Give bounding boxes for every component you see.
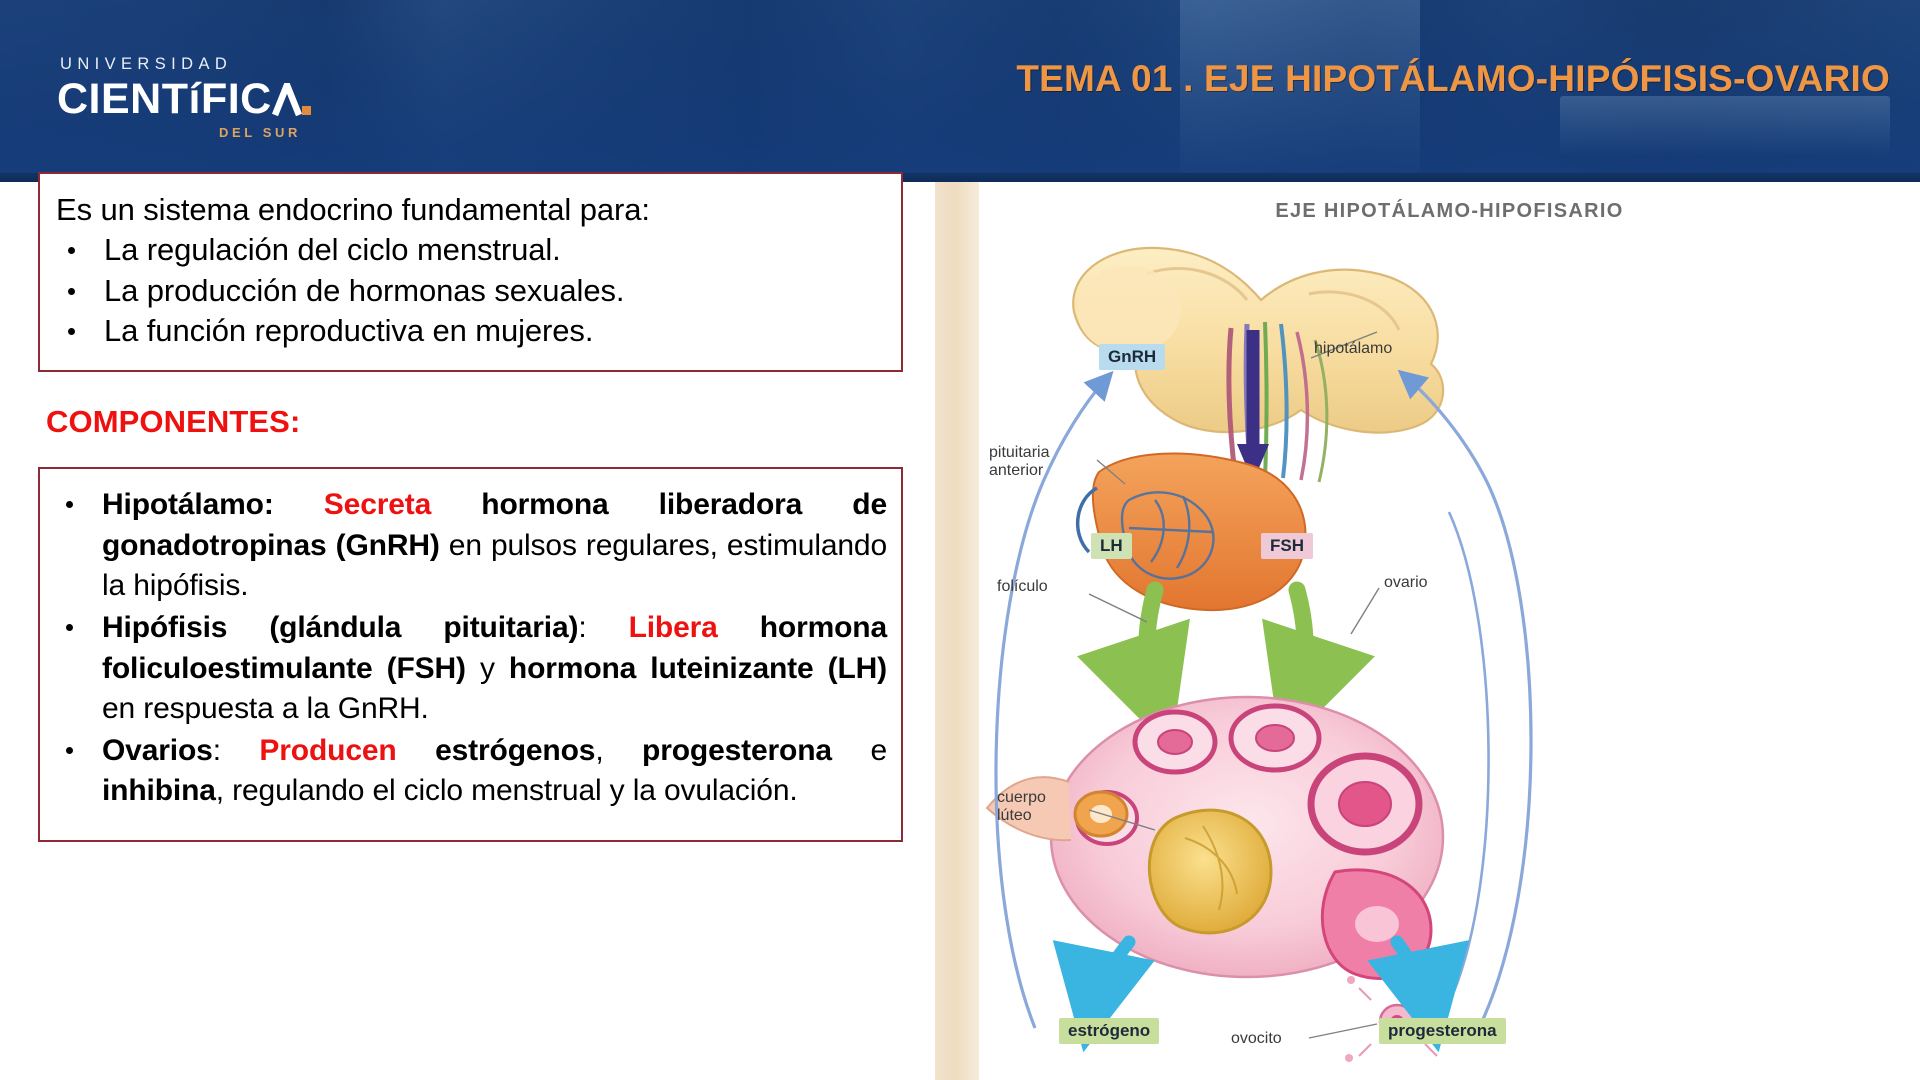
intro-textbox: Es un sistema endocrino fundamental para…: [38, 172, 903, 372]
term-ovarios-colon: :: [213, 734, 221, 767]
slide: UNIVERSIDAD CIENTíFIC DEL SUR TEMA 01 . …: [0, 0, 1920, 1080]
label-pituitaria-anterior: pituitaria anterior: [989, 444, 1049, 481]
intro-bullet-list: La regulación del ciclo menstrual. La pr…: [56, 230, 885, 351]
components-heading: COMPONENTES:: [46, 404, 300, 440]
list-item-hipotalamo: Hipotálamo: Secreta hormona liberadora d…: [54, 485, 887, 607]
tag-progesterona: progesterona: [1379, 1018, 1506, 1044]
logo-a-glyph-icon: [272, 83, 302, 116]
tag-gnrh: GnRH: [1099, 344, 1165, 370]
separator-comma: ,: [595, 734, 642, 767]
label-pituitaria-line1: pituitaria: [989, 444, 1049, 461]
tag-estrogeno: estrógeno: [1059, 1018, 1159, 1044]
page-title: TEMA 01 . EJE HIPOTÁLAMO-HIPÓFISIS-OVARI…: [640, 58, 1890, 99]
components-bullet-list: Hipotálamo: Secreta hormona liberadora d…: [54, 485, 887, 812]
diagram-artwork-icon: [979, 182, 1920, 1080]
diagram-side-strip: [935, 182, 979, 1080]
hypothalamic-pituitary-ovarian-axis-figure: EJE HIPOTÁLAMO-HIPOFISARIO: [979, 182, 1920, 1080]
tag-fsh: FSH: [1261, 533, 1313, 559]
logo-supertext: UNIVERSIDAD: [60, 56, 317, 73]
bold-estrogenos: estrógenos: [435, 734, 595, 767]
label-pituitaria-line2: anterior: [989, 462, 1043, 479]
highlight-secreta: Secreta: [324, 488, 431, 521]
label-hipotalamo: hipotálamo: [1314, 340, 1392, 358]
university-logo: UNIVERSIDAD CIENTíFIC DEL SUR: [57, 56, 317, 136]
logo-accent-dot-icon: [302, 106, 311, 115]
tag-lh: LH: [1091, 533, 1132, 559]
label-cuerpo-line1: cuerpo: [997, 789, 1046, 806]
bold-lh-phrase: hormona luteinizante (LH): [509, 652, 887, 685]
conjunction-e: e: [832, 734, 887, 767]
slide-header: UNIVERSIDAD CIENTíFIC DEL SUR TEMA 01 . …: [0, 0, 1920, 182]
list-item-ovarios: Ovarios: Producen estrógenos, progestero…: [54, 731, 887, 812]
label-ovocito: ovocito: [1231, 1030, 1282, 1048]
label-cuerpo-luteo: cuerpo lúteo: [997, 789, 1046, 826]
list-item: La producción de hormonas sexuales.: [56, 271, 885, 311]
components-textbox: Hipotálamo: Secreta hormona liberadora d…: [38, 467, 903, 842]
bold-progesterona: progesterona: [642, 734, 832, 767]
list-item: La regulación del ciclo menstrual.: [56, 230, 885, 270]
logo-subtext: DEL SUR: [57, 125, 317, 140]
term-hipotalamo: Hipotálamo:: [102, 488, 274, 521]
rest-hipofisis: en respuesta a la GnRH.: [102, 692, 429, 725]
logo-wordmark-text: CIENTíFIC: [57, 75, 272, 123]
highlight-libera: Libera: [629, 611, 718, 644]
list-item-hipofisis: Hipófisis (glándula pituitaria): Libera …: [54, 608, 887, 730]
left-content-column: Es un sistema endocrino fundamental para…: [0, 182, 935, 1080]
highlight-producen: Producen: [259, 734, 396, 767]
bold-inhibina: inhibina: [102, 774, 216, 807]
conjunction-y: y: [466, 652, 509, 685]
label-cuerpo-line2: lúteo: [997, 807, 1032, 824]
list-item: La función reproductiva en mujeres.: [56, 311, 885, 351]
diagram-panel: EJE HIPOTÁLAMO-HIPOFISARIO: [935, 182, 1920, 1080]
term-ovarios: Ovarios: [102, 734, 213, 767]
term-hipofisis-colon: :: [578, 611, 586, 644]
term-hipofisis: Hipófisis (glándula pituitaria): [102, 611, 578, 644]
intro-lead-text: Es un sistema endocrino fundamental para…: [56, 190, 885, 230]
rest-ovarios: , regulando el ciclo menstrual y la ovul…: [216, 774, 798, 807]
logo-wordmark: CIENTíFIC: [57, 78, 317, 121]
label-ovario: ovario: [1384, 574, 1428, 592]
label-foliculo: folículo: [997, 578, 1048, 596]
